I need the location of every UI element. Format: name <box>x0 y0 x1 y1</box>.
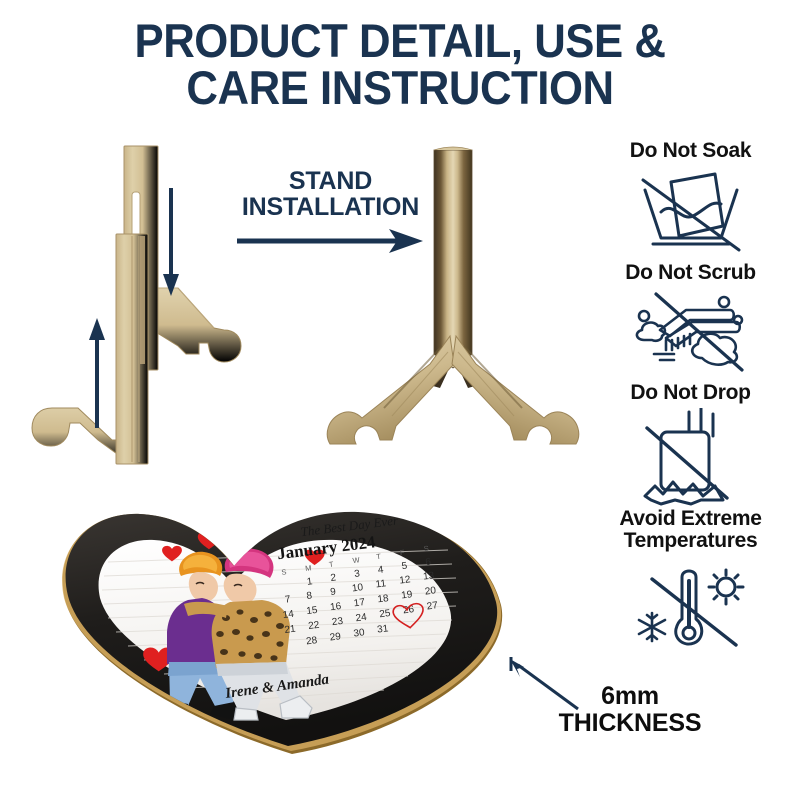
svg-text:16: 16 <box>329 601 342 613</box>
stand-post-top <box>434 147 472 150</box>
svg-text:19: 19 <box>401 589 414 601</box>
stand-slot-gap <box>140 236 145 364</box>
thickness-text: 6mm THICKNESS <box>530 683 730 737</box>
infographic-page: PRODUCT DETAIL, USE & CARE INSTRUCTION <box>0 0 800 800</box>
svg-text:12: 12 <box>399 574 412 586</box>
page-title-line-2: CARE INSTRUCTION <box>28 65 772 112</box>
svg-text:21: 21 <box>284 624 297 636</box>
svg-text:30: 30 <box>353 627 366 639</box>
stand-leg-left <box>327 336 454 444</box>
svg-text:27: 27 <box>426 600 439 612</box>
arrow-up-icon <box>88 318 106 433</box>
svg-text:13: 13 <box>422 570 435 582</box>
svg-text:23: 23 <box>331 616 344 628</box>
svg-text:15: 15 <box>306 605 319 617</box>
do-not-soak-icon <box>631 166 751 258</box>
svg-text:29: 29 <box>329 631 342 643</box>
stand-assembled-illustration <box>322 140 584 455</box>
svg-text:17: 17 <box>353 597 366 609</box>
svg-text:24: 24 <box>355 612 368 624</box>
svg-text:31: 31 <box>377 623 390 635</box>
thickness-label: THICKNESS <box>530 710 730 737</box>
svg-text:20: 20 <box>424 585 437 597</box>
svg-text:11: 11 <box>375 578 387 590</box>
svg-text:10: 10 <box>351 582 364 594</box>
stand-center-post <box>434 150 472 368</box>
svg-text:14: 14 <box>282 609 295 621</box>
svg-text:18: 18 <box>377 593 390 605</box>
care-label-do-not-drop: Do Not Drop <box>583 382 798 404</box>
page-title-line-1: PRODUCT DETAIL, USE & <box>28 18 772 65</box>
svg-text:22: 22 <box>308 620 321 632</box>
do-not-scrub-icon <box>626 288 756 374</box>
care-item-do-not-drop: Do Not Drop <box>583 382 798 506</box>
care-label-do-not-soak: Do Not Soak <box>583 140 798 162</box>
page-title: PRODUCT DETAIL, USE & CARE INSTRUCTION <box>28 18 772 111</box>
care-label-avoid-extreme-temperatures: Avoid Extreme Temperatures <box>583 508 798 553</box>
svg-text:25: 25 <box>379 608 392 620</box>
care-label-do-not-scrub: Do Not Scrub <box>583 262 798 284</box>
avoid-extreme-temperatures-icon <box>626 557 756 649</box>
stand-leg-right <box>452 336 579 444</box>
thickness-value: 6mm <box>530 683 730 710</box>
care-item-do-not-soak: Do Not Soak <box>583 140 798 258</box>
arrow-down-icon <box>162 188 180 303</box>
svg-text:28: 28 <box>305 635 318 647</box>
care-item-avoid-extreme-temperatures: Avoid Extreme Temperatures <box>583 508 798 649</box>
do-not-drop-icon <box>631 408 751 506</box>
care-item-do-not-scrub: Do Not Scrub <box>583 262 798 374</box>
stand-disassembled-illustration <box>28 140 258 475</box>
svg-text:M: M <box>305 563 312 573</box>
heart-plaque-product: The Best Day Ever January 2024 S M T W T… <box>48 492 548 767</box>
